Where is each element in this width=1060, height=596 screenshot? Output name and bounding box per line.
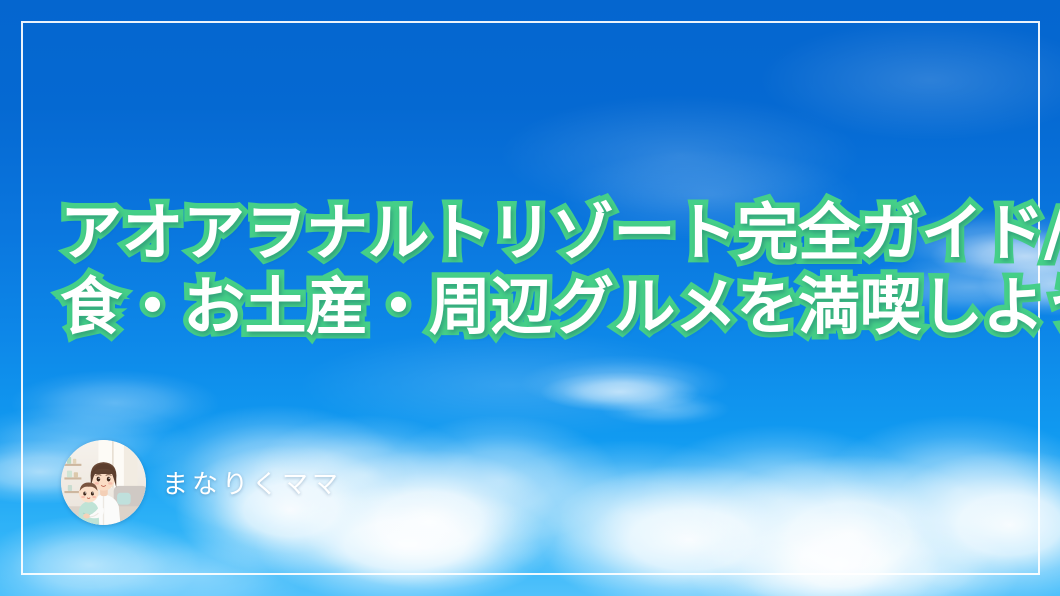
- page-title: アオアヲナルトリゾート完全ガイド/夕 食・お土産・周辺グルメを満喫しよう！: [60, 196, 1020, 344]
- avatar: [61, 440, 146, 525]
- blog-thumbnail-card: アオアヲナルトリゾート完全ガイド/夕 食・お土産・周辺グルメを満喫しよう！: [0, 0, 1060, 596]
- title-line-2: 食・お土産・周辺グルメを満喫しよう！: [60, 270, 1020, 344]
- title-line-1: アオアヲナルトリゾート完全ガイド/夕: [60, 196, 1020, 270]
- avatar-illustration: [61, 440, 146, 525]
- author-byline: まなりくママ: [61, 440, 342, 525]
- author-name: まなりくママ: [162, 464, 342, 501]
